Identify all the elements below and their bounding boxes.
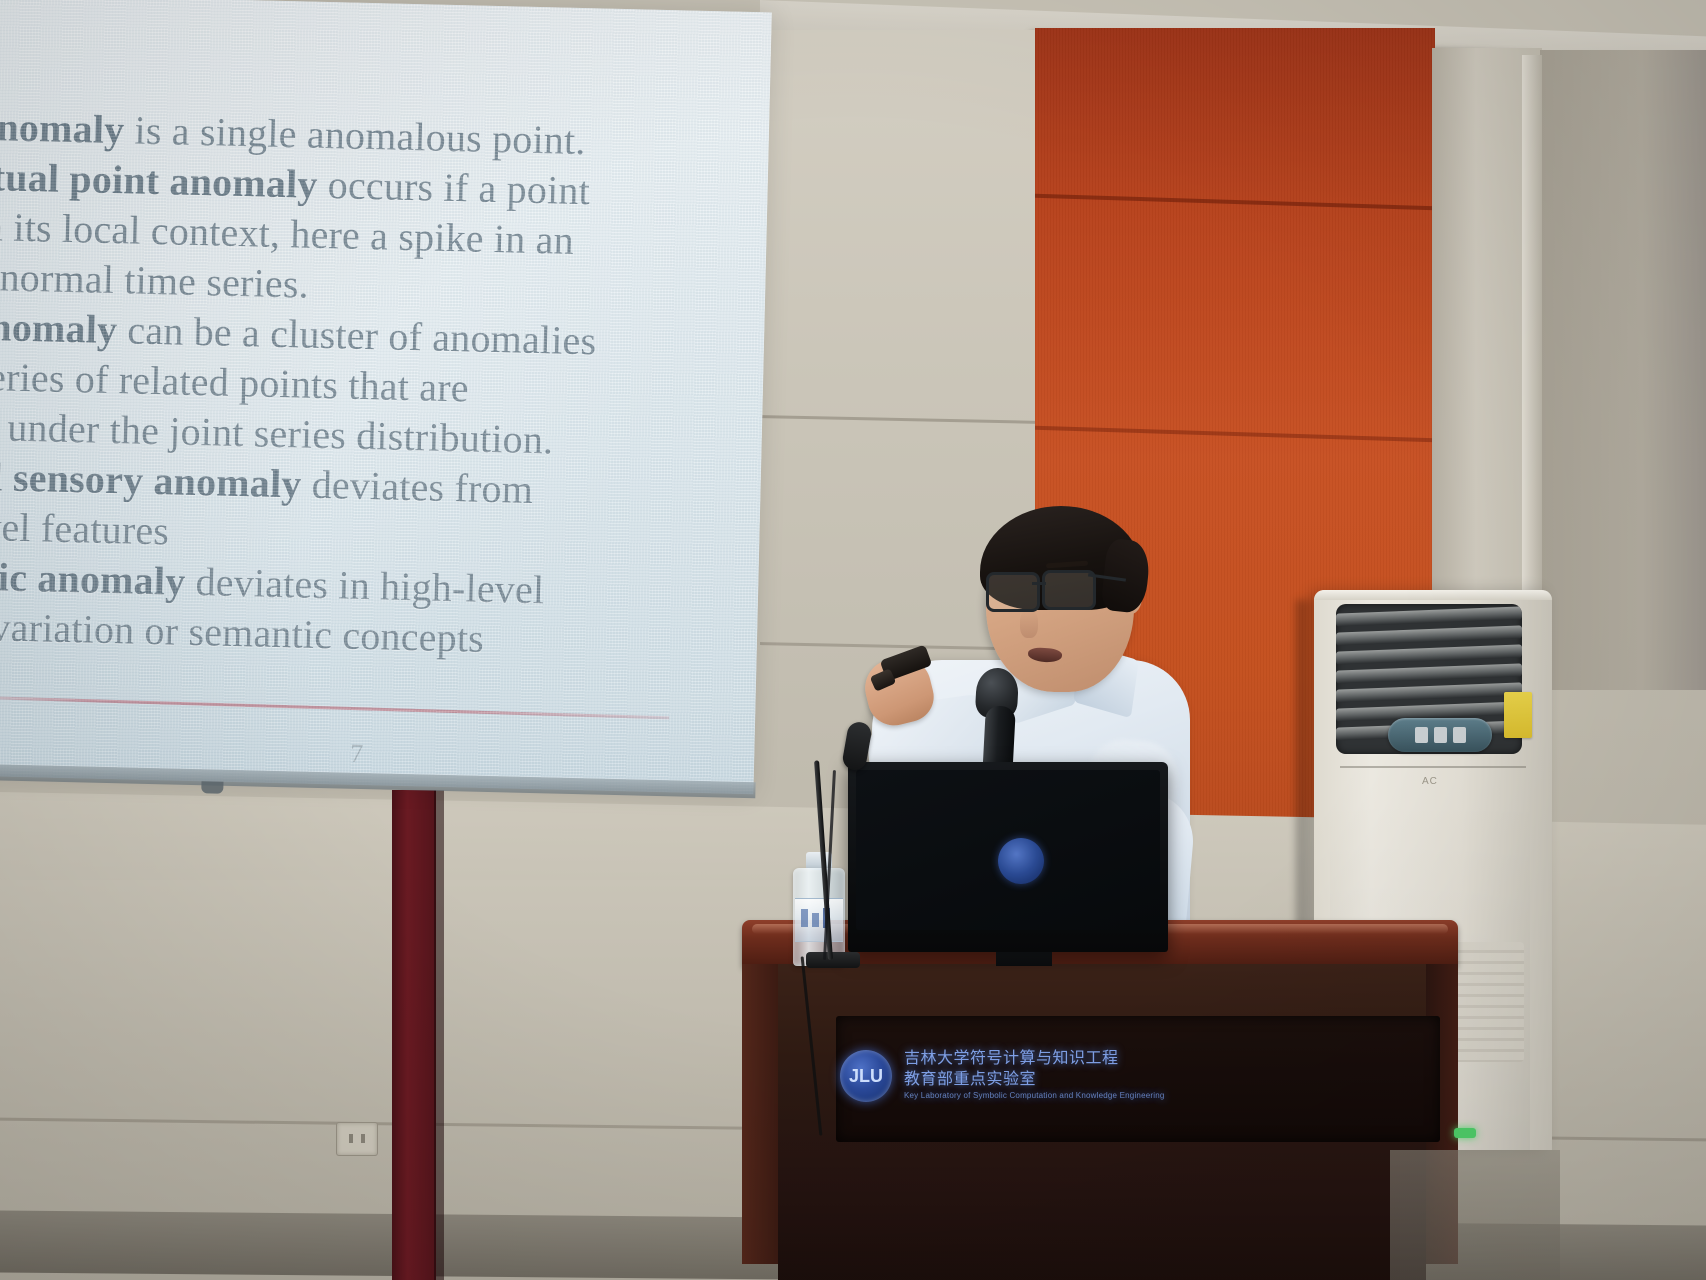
lecture-podium: JLU 吉林大学符号计算与知识工程 教育部重点实验室 Key Laborator… [742, 920, 1458, 1280]
podium-side-left [742, 964, 780, 1264]
lecture-hall-photo: int anomaly is a single anomalous point.… [0, 0, 1706, 1280]
status-led [1454, 1128, 1476, 1138]
gooseneck-microphone-base [806, 952, 860, 968]
podium-sign-text: 吉林大学符号计算与知识工程 教育部重点实验室 Key Laboratory of… [904, 1048, 1234, 1102]
podium-front-panel: JLU 吉林大学符号计算与知识工程 教育部重点实验室 Key Laborator… [778, 964, 1426, 1280]
podium-sign-line-1: 吉林大学符号计算与知识工程 [904, 1048, 1234, 1069]
podium-sign-line-3: Key Laboratory of Symbolic Computation a… [904, 1090, 1234, 1102]
eyeglasses-lens-left [986, 572, 1040, 612]
monitor-brand-logo-icon [998, 838, 1044, 884]
floor-equipment-box [1390, 1150, 1560, 1280]
podium-monitor[interactable] [848, 762, 1168, 952]
eyeglasses-bridge [1032, 582, 1046, 585]
monitor-screen [856, 770, 1160, 930]
water-bottle-label [795, 898, 843, 942]
podium-sign-line-2: 教育部重点实验室 [904, 1069, 1234, 1090]
university-emblem-icon: JLU [840, 1050, 892, 1102]
presenter-nose [1020, 610, 1038, 638]
